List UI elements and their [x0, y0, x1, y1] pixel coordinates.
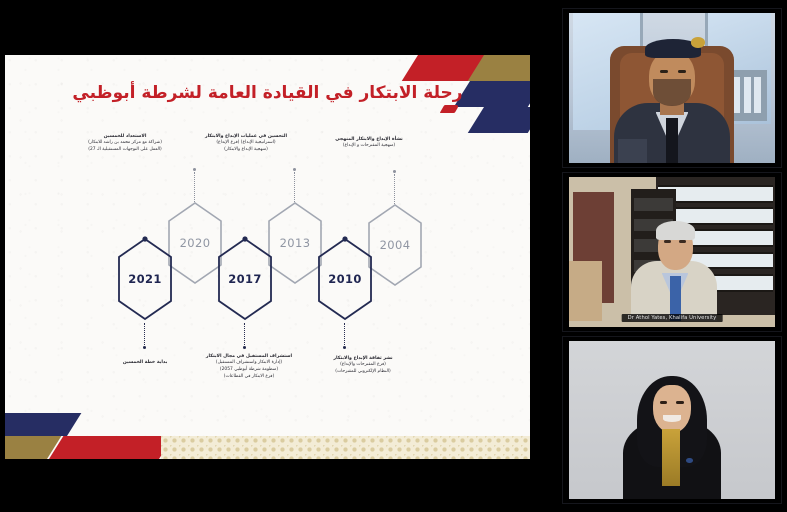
participant-name-label: Dr Athol Yates, Khalifa University [622, 314, 723, 322]
timeline-dot-2020-top [193, 168, 196, 171]
timeline-hexagon-2017[interactable]: 2017 [217, 237, 273, 321]
timeline-year-2010: 2010 [317, 272, 373, 286]
timeline-hexagon-2020[interactable]: 2020 [167, 201, 223, 285]
cabinet [569, 261, 602, 321]
timeline-year-2013: 2013 [267, 236, 323, 250]
participant-video-2: Dr Athol Yates, Khalifa University [569, 177, 775, 327]
presentation-slide[interactable]: رحلة الابتكار في القيادة العامة لشرطة أب… [5, 55, 530, 459]
timeline-connector-2013 [294, 172, 295, 202]
lapel-pin-icon [686, 458, 692, 463]
timeline-label-2017: التحسين في عمليات الإبداع والابتكار (است… [187, 133, 305, 154]
timeline-dot-2013-top [293, 168, 296, 171]
uniform-epaulette [618, 139, 647, 163]
person-eye-left [664, 240, 671, 243]
person-eye-left [660, 70, 668, 73]
timeline-dot-2004-top [393, 170, 396, 173]
timeline-dot-2017-bottom [243, 346, 246, 349]
beret-badge-icon [691, 37, 705, 48]
person-face [653, 385, 690, 432]
participant-tile-2[interactable]: Dr Athol Yates, Khalifa University [562, 172, 782, 332]
necktie [666, 118, 678, 163]
timeline-label-2020: بداية خطة الخمسين [93, 359, 197, 366]
participant-video-3 [569, 341, 775, 499]
timeline-connector-2004 [394, 174, 395, 204]
video-conference-window: رحلة الابتكار في القيادة العامة لشرطة أب… [0, 0, 787, 512]
person-hair [656, 221, 695, 241]
timeline-dot-2021-bottom [143, 346, 146, 349]
person-eye-left [660, 401, 667, 404]
timeline-year-2021: 2021 [117, 272, 173, 286]
gold-embroidered-scarf [662, 429, 681, 486]
slide-title: رحلة الابتكار في القيادة العامة لشرطة أب… [5, 83, 530, 103]
timeline-year-2004: 2004 [367, 238, 423, 252]
flag-accent-icon [440, 105, 460, 113]
person-eye-right [678, 70, 686, 73]
person-eye-right [679, 240, 686, 243]
timeline-dot-2010-bottom [343, 346, 346, 349]
timeline-hexagon-2021[interactable]: 2021 [117, 237, 173, 321]
participant-tile-1[interactable] [562, 8, 782, 168]
person-smile [663, 415, 682, 421]
innovation-timeline: الاستعداد للخمسين (شراكة مع مركز محمد بن… [5, 127, 530, 427]
timeline-connector-2020 [194, 172, 195, 202]
timeline-label-2013: استشراف المستقبل في مجال الابتكار (إدارة… [191, 353, 307, 381]
deco-band-navy-bottom [5, 413, 81, 436]
timeline-connector-2010-lower [344, 323, 345, 345]
timeline-year-2020: 2020 [167, 236, 223, 250]
timeline-year-2017: 2017 [217, 272, 273, 286]
participant-tile-3[interactable] [562, 336, 782, 504]
deco-band-red-bottom [49, 436, 173, 459]
slide-footer-pattern-band [161, 436, 530, 459]
person-eye-right [676, 401, 683, 404]
person-beard [653, 79, 690, 106]
timeline-hexagon-2004[interactable]: 2004 [367, 203, 423, 287]
timeline-label-2010: نشأة الإبداع والابتكار المنهجي (منهجية ا… [310, 136, 428, 150]
timeline-hexagon-2013[interactable]: 2013 [267, 201, 323, 285]
timeline-connector-2017-lower [244, 323, 245, 345]
timeline-label-2004: نشر ثقافة الإبداع والابتكار (فرع المقترح… [305, 355, 421, 376]
timeline-label-2021: الاستعداد للخمسين (شراكة مع مركز محمد بن… [65, 133, 185, 154]
participant-video-1 [569, 13, 775, 163]
timeline-connector-2021-lower [144, 323, 145, 345]
timeline-hexagon-2010[interactable]: 2010 [317, 237, 373, 321]
